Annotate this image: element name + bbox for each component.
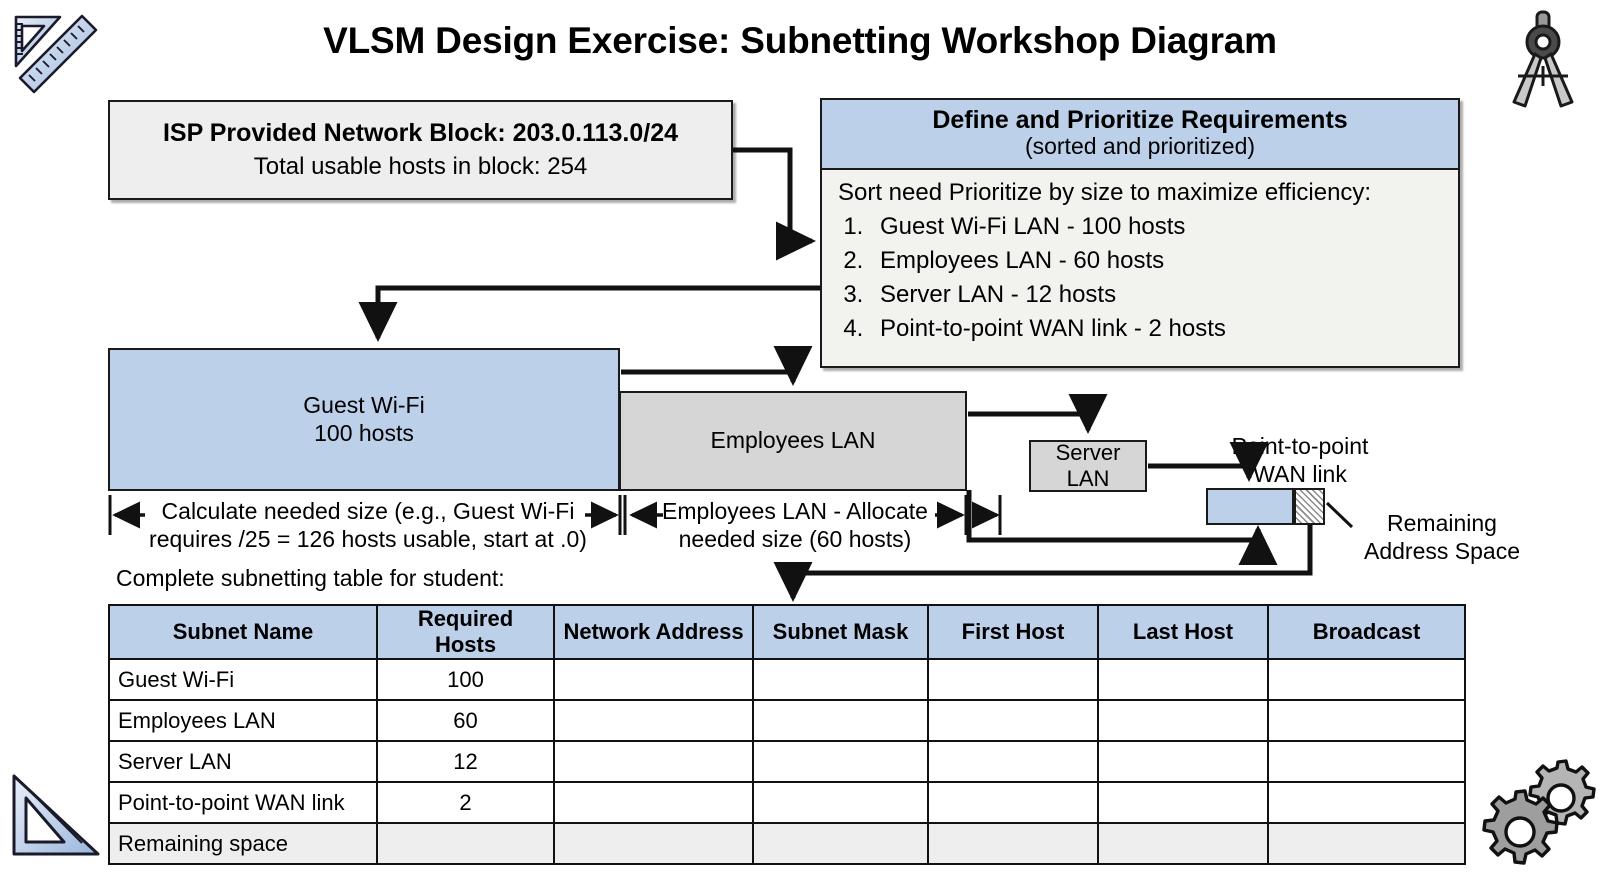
guest-wifi-size-caption: Calculate needed size (e.g., Guest Wi-Fi…: [118, 498, 618, 553]
subnetting-table: Subnet Name Required Hosts Network Addre…: [108, 604, 1466, 865]
requirements-list: Guest Wi-Fi LAN - 100 hosts Employees LA…: [838, 210, 1458, 346]
cell-first-host[interactable]: [928, 782, 1098, 823]
guest-bar-hosts: 100 hosts: [314, 420, 414, 447]
requirements-header-subtitle: (sorted and prioritized): [830, 134, 1450, 160]
cell-broadcast[interactable]: [1268, 741, 1465, 782]
remaining-label-line2: Address Space: [1342, 538, 1542, 566]
column-header-subnet-mask: Subnet Mask: [753, 605, 928, 659]
server-bar-line2: LAN: [1067, 466, 1110, 492]
table-row: Guest Wi-Fi 100: [109, 659, 1465, 700]
cell-subnet-name: Remaining space: [109, 823, 377, 864]
cell-subnet-name: Employees LAN: [109, 700, 377, 741]
requirements-header-title: Define and Prioritize Requirements: [830, 106, 1450, 134]
diagram-canvas: VLSM Design Exercise: Subnetting Worksho…: [0, 0, 1600, 873]
cell-first-host[interactable]: [928, 700, 1098, 741]
cell-required-hosts: [377, 823, 554, 864]
isp-block-subtext: Total usable hosts in block: 254: [254, 153, 588, 181]
cell-last-host[interactable]: [1098, 823, 1268, 864]
table-row: Remaining space: [109, 823, 1465, 864]
cell-subnet-name: Point-to-point WAN link: [109, 782, 377, 823]
requirements-header: Define and Prioritize Requirements (sort…: [822, 100, 1458, 170]
cell-first-host[interactable]: [928, 823, 1098, 864]
requirements-intro: Sort need Prioritize by size to maximize…: [838, 176, 1458, 210]
remaining-address-space-label: Remaining Address Space: [1342, 510, 1542, 565]
cell-network-address[interactable]: [554, 782, 753, 823]
cell-network-address[interactable]: [554, 823, 753, 864]
cell-last-host[interactable]: [1098, 700, 1268, 741]
cell-first-host[interactable]: [928, 741, 1098, 782]
wan-link-label: Point-to-point WAN link: [1205, 433, 1395, 488]
cell-required-hosts: 100: [377, 659, 554, 700]
subnet-bar-employees-lan: Employees LAN: [619, 391, 967, 491]
column-header-network-address: Network Address: [554, 605, 753, 659]
cell-required-hosts: 2: [377, 782, 554, 823]
table-row: Employees LAN 60: [109, 700, 1465, 741]
requirements-body: Sort need Prioritize by size to maximize…: [822, 170, 1458, 346]
cell-network-address[interactable]: [554, 659, 753, 700]
cell-required-hosts: 12: [377, 741, 554, 782]
requirements-box: Define and Prioritize Requirements (sort…: [820, 98, 1460, 368]
connector-employees-to-server: [968, 414, 1088, 430]
wan-link-label-line2: WAN link: [1205, 461, 1395, 489]
set-square-icon: [2, 748, 114, 866]
cell-network-address[interactable]: [554, 700, 753, 741]
subnet-bar-wan-link: [1206, 488, 1294, 525]
subnet-bar-guest-wifi: Guest Wi-Fi 100 hosts: [108, 348, 620, 491]
cell-last-host[interactable]: [1098, 741, 1268, 782]
employees-bar-name: Employees LAN: [711, 427, 876, 454]
page-title: VLSM Design Exercise: Subnetting Worksho…: [0, 20, 1600, 62]
employees-caption-line1: Employees LAN - Allocate: [630, 498, 960, 526]
remaining-address-space-bar: [1294, 488, 1325, 525]
subnet-bar-server-lan: Server LAN: [1029, 440, 1147, 492]
column-header-subnet-name: Subnet Name: [109, 605, 377, 659]
guest-caption-line1: Calculate needed size (e.g., Guest Wi-Fi: [118, 498, 618, 526]
connector-guest-to-employees: [621, 372, 793, 382]
list-item: Server LAN - 12 hosts: [870, 278, 1458, 312]
table-row: Server LAN 12: [109, 741, 1465, 782]
gears-icon: [1472, 742, 1596, 866]
cell-subnet-mask[interactable]: [753, 659, 928, 700]
list-item: Point-to-point WAN link - 2 hosts: [870, 312, 1458, 346]
cell-subnet-mask[interactable]: [753, 823, 928, 864]
cell-subnet-name: Guest Wi-Fi: [109, 659, 377, 700]
connector-requirements-to-guest: [378, 288, 820, 338]
ruler-set-square-icon: [4, 4, 108, 108]
guest-bar-name: Guest Wi-Fi: [303, 392, 424, 419]
cell-first-host[interactable]: [928, 659, 1098, 700]
column-header-first-host: First Host: [928, 605, 1098, 659]
column-header-broadcast: Broadcast: [1268, 605, 1465, 659]
employees-caption-line2: needed size (60 hosts): [630, 526, 960, 554]
isp-network-block-box: ISP Provided Network Block: 203.0.113.0/…: [108, 100, 733, 200]
guest-caption-line2: requires /25 = 126 hosts usable, start a…: [118, 526, 618, 554]
table-intro-text: Complete subnetting table for student:: [116, 565, 505, 592]
employees-lan-size-caption: Employees LAN - Allocate needed size (60…: [630, 498, 960, 553]
cell-last-host[interactable]: [1098, 782, 1268, 823]
remaining-label-line1: Remaining: [1342, 510, 1542, 538]
cell-subnet-name: Server LAN: [109, 741, 377, 782]
cell-broadcast[interactable]: [1268, 700, 1465, 741]
wan-link-label-line1: Point-to-point: [1205, 433, 1395, 461]
cell-broadcast[interactable]: [1268, 782, 1465, 823]
cell-last-host[interactable]: [1098, 659, 1268, 700]
table-row: Point-to-point WAN link 2: [109, 782, 1465, 823]
cell-broadcast[interactable]: [1268, 823, 1465, 864]
compass-divider-icon: [1494, 6, 1594, 112]
column-header-last-host: Last Host: [1098, 605, 1268, 659]
cell-subnet-mask[interactable]: [753, 700, 928, 741]
column-header-required-hosts: Required Hosts: [377, 605, 554, 659]
server-bar-line1: Server: [1056, 440, 1121, 466]
connector-isp-to-requirements: [733, 150, 812, 241]
cell-required-hosts: 60: [377, 700, 554, 741]
table-header-row: Subnet Name Required Hosts Network Addre…: [109, 605, 1465, 659]
isp-block-heading: ISP Provided Network Block: 203.0.113.0/…: [163, 119, 678, 149]
list-item: Employees LAN - 60 hosts: [870, 244, 1458, 278]
list-item: Guest Wi-Fi LAN - 100 hosts: [870, 210, 1458, 244]
cell-subnet-mask[interactable]: [753, 782, 928, 823]
cell-broadcast[interactable]: [1268, 659, 1465, 700]
cell-subnet-mask[interactable]: [753, 741, 928, 782]
cell-network-address[interactable]: [554, 741, 753, 782]
